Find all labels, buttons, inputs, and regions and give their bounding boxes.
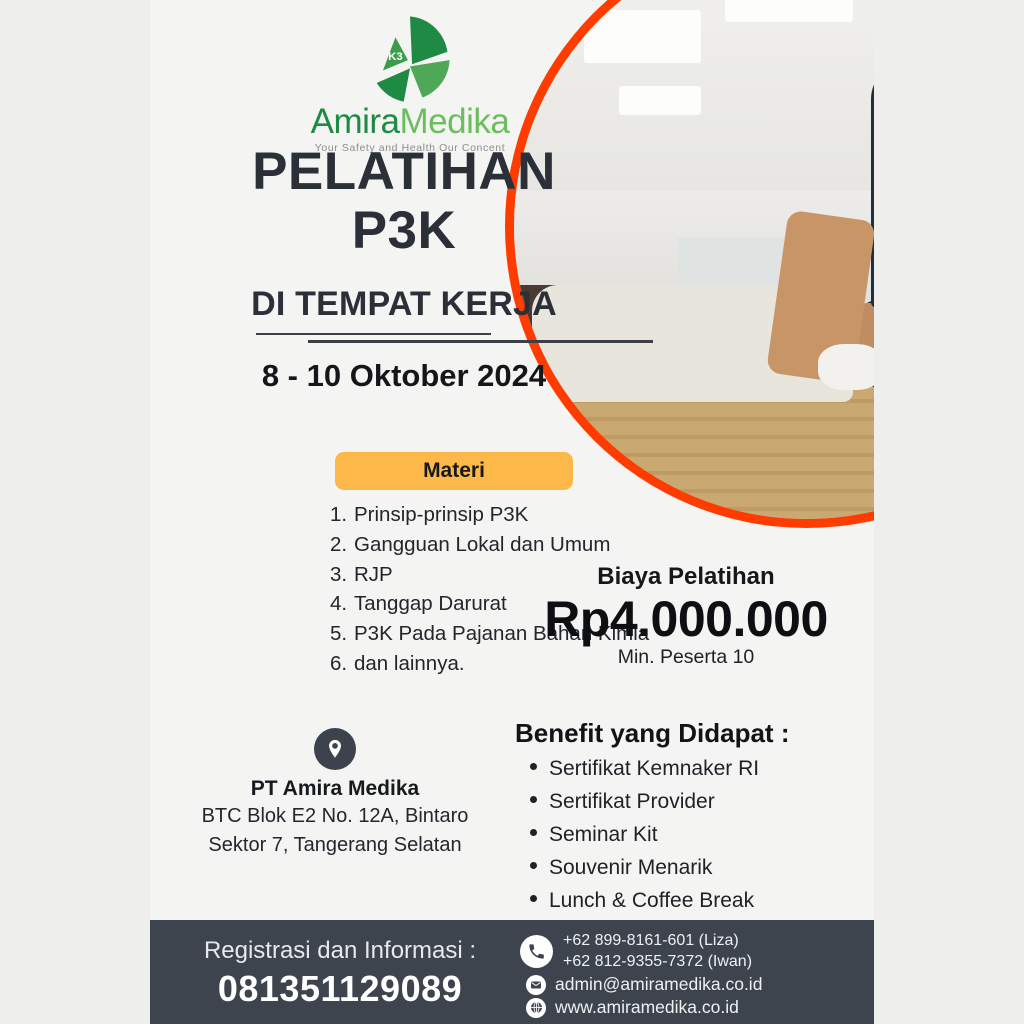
- bullet-icon: [530, 763, 537, 770]
- poster-title-line1: PELATIHAN: [150, 145, 658, 199]
- materi-item-number: 1.: [330, 500, 354, 530]
- bullet-icon: [530, 829, 537, 836]
- event-date-range: 8 - 10 Oktober 2024: [150, 358, 658, 394]
- materi-item-label: Gangguan Lokal dan Umum: [354, 533, 610, 556]
- brand-wordmark: AmiraMedika: [150, 104, 670, 139]
- brand-name-part2: Medika: [400, 102, 510, 141]
- materi-item-number: 2.: [330, 530, 354, 560]
- divider-short: [256, 333, 491, 335]
- list-item: 2.Gangguan Lokal dan Umum: [330, 530, 690, 560]
- materi-item-number: 3.: [330, 560, 354, 590]
- list-item: 1.Prinsip-prinsip P3K: [330, 500, 690, 530]
- amira-medika-logo-icon: K3: [358, 6, 462, 110]
- logo-k3-text: K3: [388, 51, 403, 63]
- bullet-icon: [530, 895, 537, 902]
- contact-footer: Registrasi dan Informasi : 081351129089 …: [150, 920, 874, 1024]
- bullet-icon: [530, 796, 537, 803]
- price-label: Biaya Pelatihan: [498, 563, 874, 591]
- price-note: Min. Peserta 10: [498, 646, 874, 669]
- materi-item-label: Prinsip-prinsip P3K: [354, 503, 528, 526]
- website-url: www.amiramedika.co.id: [555, 997, 739, 1018]
- phone-number-1: +62 899-8161-601 (Liza): [563, 930, 752, 951]
- envelope-icon: [526, 975, 546, 995]
- email-address: admin@amiramedika.co.id: [555, 974, 762, 995]
- phone-number-2: +62 812-9355-7372 (Iwan): [563, 951, 752, 972]
- email-contact-row[interactable]: admin@amiramedika.co.id: [520, 974, 870, 995]
- phone-contact-row[interactable]: +62 899-8161-601 (Liza) +62 812-9355-737…: [520, 930, 870, 972]
- materi-item-label: Tanggap Darurat: [354, 592, 507, 615]
- registration-label: Registrasi dan Informasi :: [170, 937, 510, 965]
- list-item: Seminar Kit: [530, 818, 860, 851]
- address-block: PT Amira Medika BTC Blok E2 No. 12A, Bin…: [160, 728, 510, 859]
- contact-details: +62 899-8161-601 (Liza) +62 812-9355-737…: [520, 930, 870, 1020]
- brand-logo: K3 AmiraMedika Your Safety and Health Ou…: [150, 6, 670, 154]
- materi-item-number: 4.: [330, 589, 354, 619]
- materi-item-label: RJP: [354, 563, 393, 586]
- poster-title-line2: P3K: [150, 204, 658, 258]
- address-line-2: Sektor 7, Tangerang Selatan: [160, 831, 510, 859]
- benefit-item-label: Seminar Kit: [549, 823, 658, 846]
- benefit-title: Benefit yang Didapat :: [515, 718, 789, 749]
- address-line-1: BTC Blok E2 No. 12A, Bintaro: [160, 802, 510, 830]
- bullet-icon: [530, 862, 537, 869]
- benefit-item-label: Souvenir Menarik: [549, 856, 712, 879]
- registration-phone-number[interactable]: 081351129089: [170, 968, 510, 1010]
- list-item: Souvenir Menarik: [530, 851, 860, 884]
- materi-badge: Materi: [335, 452, 573, 490]
- company-name: PT Amira Medika: [160, 775, 510, 802]
- materi-item-label: dan lainnya.: [354, 652, 465, 675]
- brand-name-part1: Amira: [311, 102, 400, 141]
- benefit-list: Sertifikat Kemnaker RI Sertifikat Provid…: [530, 752, 860, 917]
- divider-long: [308, 340, 653, 343]
- materi-item-number: 5.: [330, 619, 354, 649]
- website-contact-row[interactable]: www.amiramedika.co.id: [520, 997, 870, 1018]
- price-block: Biaya Pelatihan Rp4.000.000 Min. Peserta…: [498, 563, 874, 669]
- list-item: Sertifikat Kemnaker RI: [530, 752, 860, 785]
- benefit-item-label: Lunch & Coffee Break: [549, 889, 754, 912]
- benefit-item-label: Sertifikat Kemnaker RI: [549, 757, 759, 780]
- phone-icon: [520, 935, 553, 968]
- benefit-item-label: Sertifikat Provider: [549, 790, 715, 813]
- training-poster: K3 AmiraMedika Your Safety and Health Ou…: [150, 0, 874, 1024]
- materi-item-number: 6.: [330, 649, 354, 679]
- location-pin-icon: [314, 728, 356, 770]
- poster-canvas: K3 AmiraMedika Your Safety and Health Ou…: [0, 0, 1024, 1024]
- materi-badge-label: Materi: [423, 459, 485, 483]
- poster-subtitle: DI TEMPAT KERJA: [150, 285, 658, 324]
- price-amount: Rp4.000.000: [498, 591, 874, 647]
- list-item: Sertifikat Provider: [530, 785, 860, 818]
- globe-icon: [526, 998, 546, 1018]
- list-item: Lunch & Coffee Break: [530, 884, 860, 917]
